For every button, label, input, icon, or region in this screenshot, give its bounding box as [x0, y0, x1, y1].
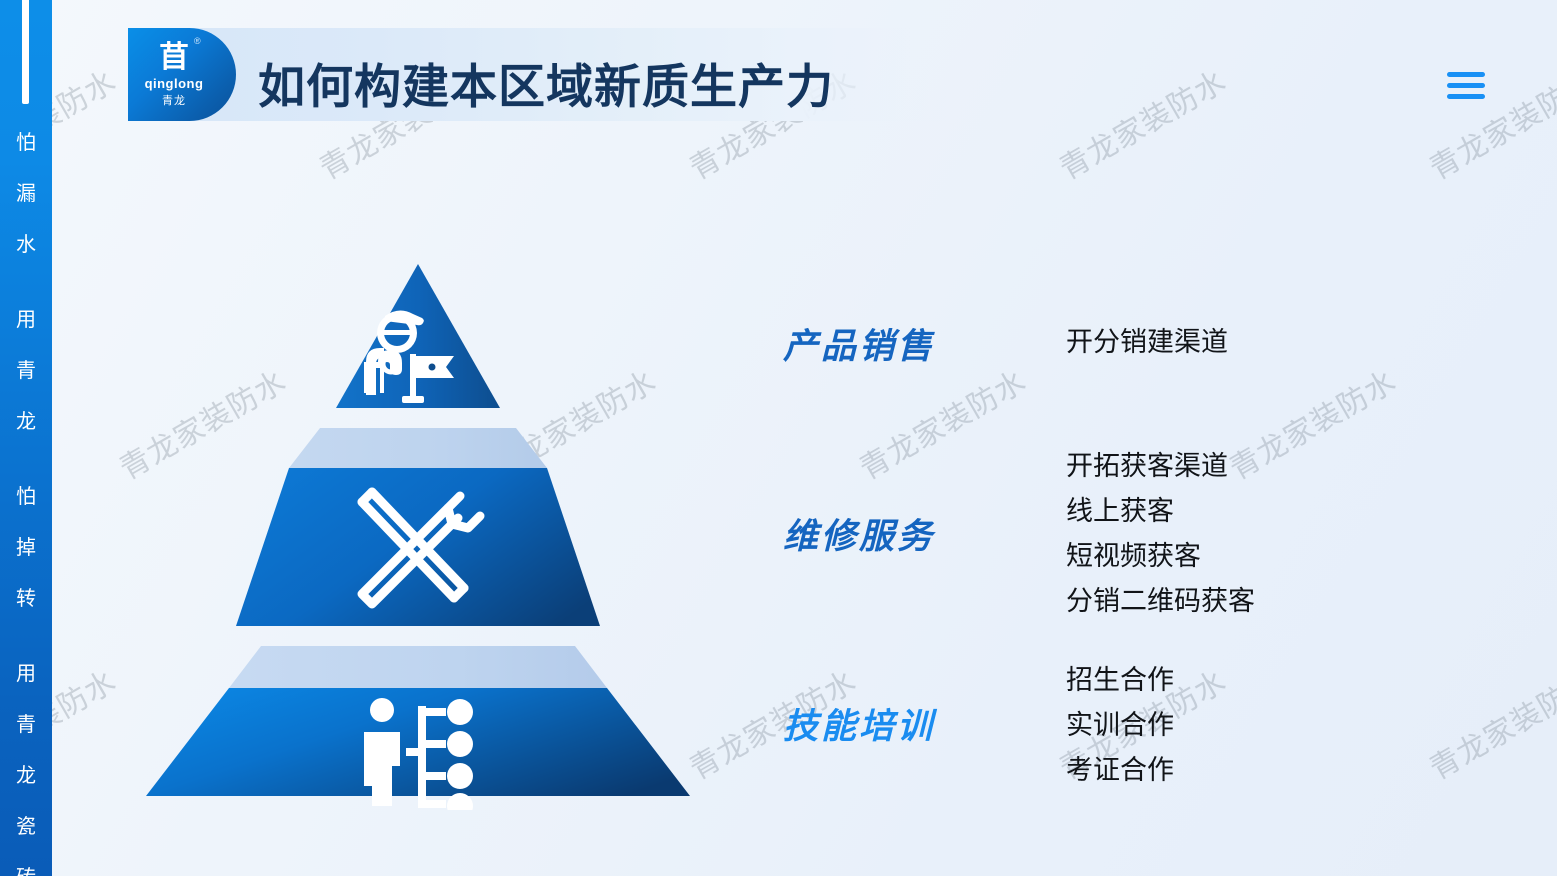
sidebar-char: 掉	[0, 523, 52, 574]
detail-line: 招生合作	[1066, 658, 1174, 703]
sidebar-accent-mark	[22, 0, 29, 104]
sidebar-char: 水	[0, 220, 52, 271]
detail-block-repair-service: 开拓获客渠道 线上获客 短视频获客 分销二维码获客	[1066, 444, 1255, 624]
sidebar-char: 怕	[0, 118, 52, 169]
detail-line: 短视频获客	[1066, 534, 1255, 579]
sidebar-char: 漏	[0, 169, 52, 220]
page-title: 如何构建本区域新质生产力	[258, 48, 834, 117]
sidebar-char: 瓷	[0, 802, 52, 853]
sidebar-char: 龙	[0, 751, 52, 802]
detail-block-skill-training: 招生合作 实训合作 考证合作	[1066, 658, 1174, 793]
sidebar-spacer	[0, 448, 52, 472]
sidebar-char: 龙	[0, 397, 52, 448]
sidebar-spacer	[0, 625, 52, 649]
watermark-text: 青龙家装防水	[1420, 657, 1557, 788]
logo-chinese-text: 青龙	[128, 92, 220, 108]
registered-trademark-icon: ®	[194, 36, 201, 46]
watermark-text: 青龙家装防水	[850, 357, 1033, 488]
detail-line: 考证合作	[1066, 748, 1174, 793]
detail-line: 线上获客	[1066, 489, 1255, 534]
detail-block-product-sales: 开分销建渠道	[1066, 320, 1228, 365]
sidebar-char: 怕	[0, 472, 52, 523]
sidebar: 怕 漏 水 用 青 龙 怕 掉 转 用 青 龙 瓷 砖 胶	[0, 0, 52, 876]
sidebar-char: 用	[0, 295, 52, 346]
pyramid-slab-1	[289, 428, 547, 468]
hamburger-bar	[1447, 83, 1485, 88]
logo-latin-text: qinglong	[128, 76, 220, 91]
sidebar-spacer	[0, 271, 52, 295]
detail-line: 分销二维码获客	[1066, 579, 1255, 624]
sidebar-slogan: 怕 漏 水 用 青 龙 怕 掉 转 用 青 龙 瓷 砖 胶	[0, 118, 52, 876]
tier-label-skill-training: 技能培训	[783, 698, 935, 749]
pyramid-tier-1	[336, 264, 500, 408]
sidebar-char: 青	[0, 700, 52, 751]
tier-label-repair-service: 维修服务	[783, 508, 935, 559]
hamburger-bar	[1447, 94, 1485, 99]
slide-canvas: 怕 漏 水 用 青 龙 怕 掉 转 用 青 龙 瓷 砖 胶 苜 qinglong…	[0, 0, 1557, 876]
detail-line: 开拓获客渠道	[1066, 444, 1255, 489]
sidebar-char: 用	[0, 649, 52, 700]
detail-line: 开分销建渠道	[1066, 320, 1228, 365]
watermark-text: 青龙家装防水	[1420, 57, 1557, 188]
logo-mark: 苜 qinglong 青龙	[128, 42, 220, 108]
sidebar-char: 青	[0, 346, 52, 397]
pyramid-diagram	[110, 250, 750, 810]
sidebar-char: 砖	[0, 853, 52, 876]
brand-logo: 苜 qinglong 青龙 ®	[128, 28, 236, 121]
tier-label-product-sales: 产品销售	[783, 318, 935, 369]
logo-glyph: 苜	[128, 42, 220, 74]
pyramid-tier-2	[236, 468, 600, 626]
watermark-text: 青龙家装防水	[1050, 57, 1233, 188]
pyramid-slab-2	[229, 646, 607, 688]
detail-line: 实训合作	[1066, 703, 1174, 748]
hamburger-bar	[1447, 72, 1485, 77]
sidebar-char: 转	[0, 574, 52, 625]
hamburger-menu-icon[interactable]	[1447, 72, 1485, 102]
